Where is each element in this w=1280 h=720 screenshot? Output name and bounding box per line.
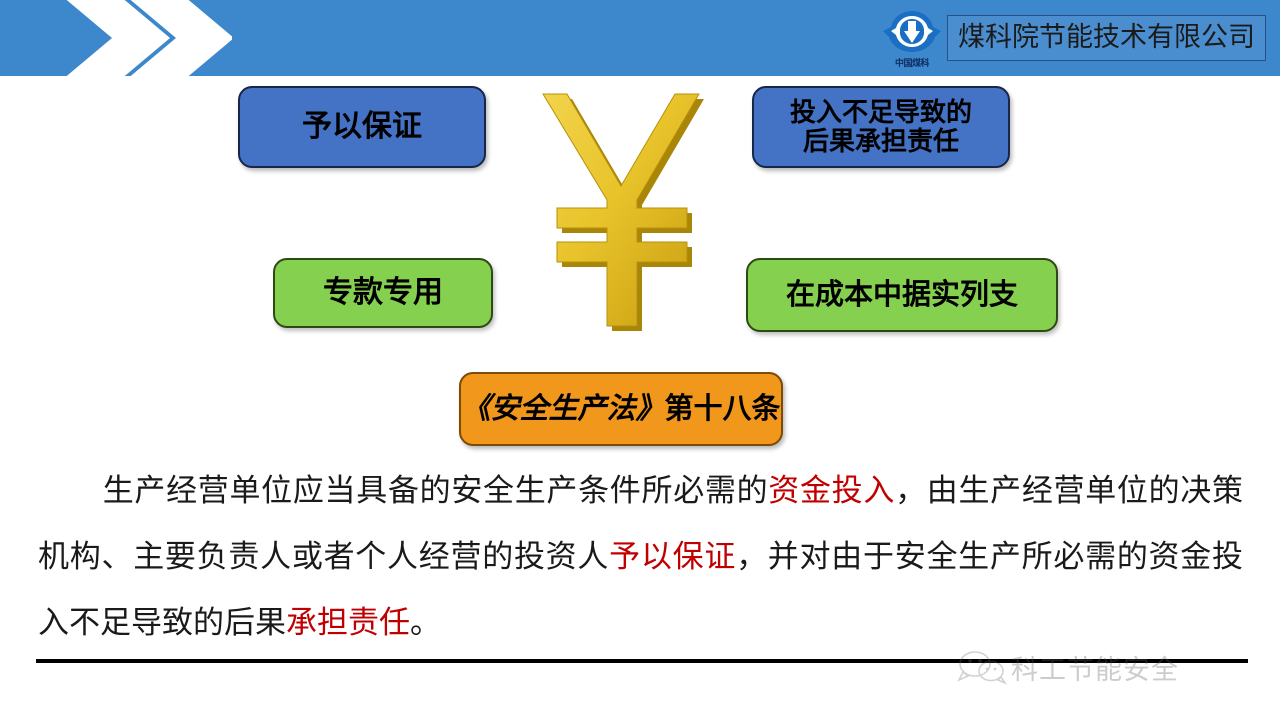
callout-label: 在成本中据实列支 — [786, 279, 1018, 311]
law-reference-label: 《安全生产法》第十八条 — [461, 393, 780, 425]
footer-watermark: 科工节能安全 — [955, 645, 1255, 689]
highlight-chengdanzeren: 承担责任 — [286, 605, 410, 640]
body-segment-4: 。 — [410, 605, 441, 640]
company-name: 煤科院节能技术有限公司 — [958, 22, 1255, 52]
wechat-logo-icon — [955, 649, 1011, 685]
callout-box-yuyibaozheng[interactable]: 予以保证 — [238, 86, 486, 168]
body-paragraph: 生产经营单位应当具备的安全生产条件所必需的资金投入，由生产经营单位的决策机构、主… — [38, 458, 1243, 656]
highlight-yuyibaozheng: 予以保证 — [609, 539, 736, 574]
callout-label: 予以保证 — [302, 110, 422, 144]
law-title: 《安全生产法》 — [461, 393, 664, 425]
company-name-box: 煤科院节能技术有限公司 — [947, 15, 1266, 61]
callout-box-chengben[interactable]: 在成本中据实列支 — [746, 258, 1058, 332]
watermark-text: 科工节能安全 — [1011, 648, 1179, 687]
header-band: 中国煤科 煤科院节能技术有限公司 — [0, 0, 1280, 76]
highlight-zijintouru: 资金投入 — [768, 473, 895, 508]
logo-subtitle: 中国煤科 — [881, 58, 943, 68]
callout-line-1: 投入不足导致的 — [790, 97, 972, 127]
double-chevron-right-icon — [42, 0, 232, 76]
callout-box-law-reference[interactable]: 《安全生产法》第十八条 — [459, 372, 783, 446]
callout-label: 专款专用 — [323, 276, 443, 310]
callout-label-multiline: 投入不足导致的 后果承担责任 — [790, 98, 972, 156]
body-segment-1: 生产经营单位应当具备的安全生产条件所必需的 — [102, 473, 768, 508]
yen-currency-symbol-icon — [521, 76, 721, 348]
callout-box-touru[interactable]: 投入不足导致的 后果承担责任 — [752, 86, 1010, 168]
china-coal-science-logo-icon: 中国煤科 — [881, 7, 943, 69]
company-logo-block: 中国煤科 煤科院节能技术有限公司 — [881, 6, 1266, 70]
callout-box-zhuankuan[interactable]: 专款专用 — [273, 258, 493, 328]
yen-symbol-image — [521, 76, 721, 348]
callout-line-2: 后果承担责任 — [803, 126, 959, 156]
law-article: 第十八条 — [665, 393, 781, 425]
